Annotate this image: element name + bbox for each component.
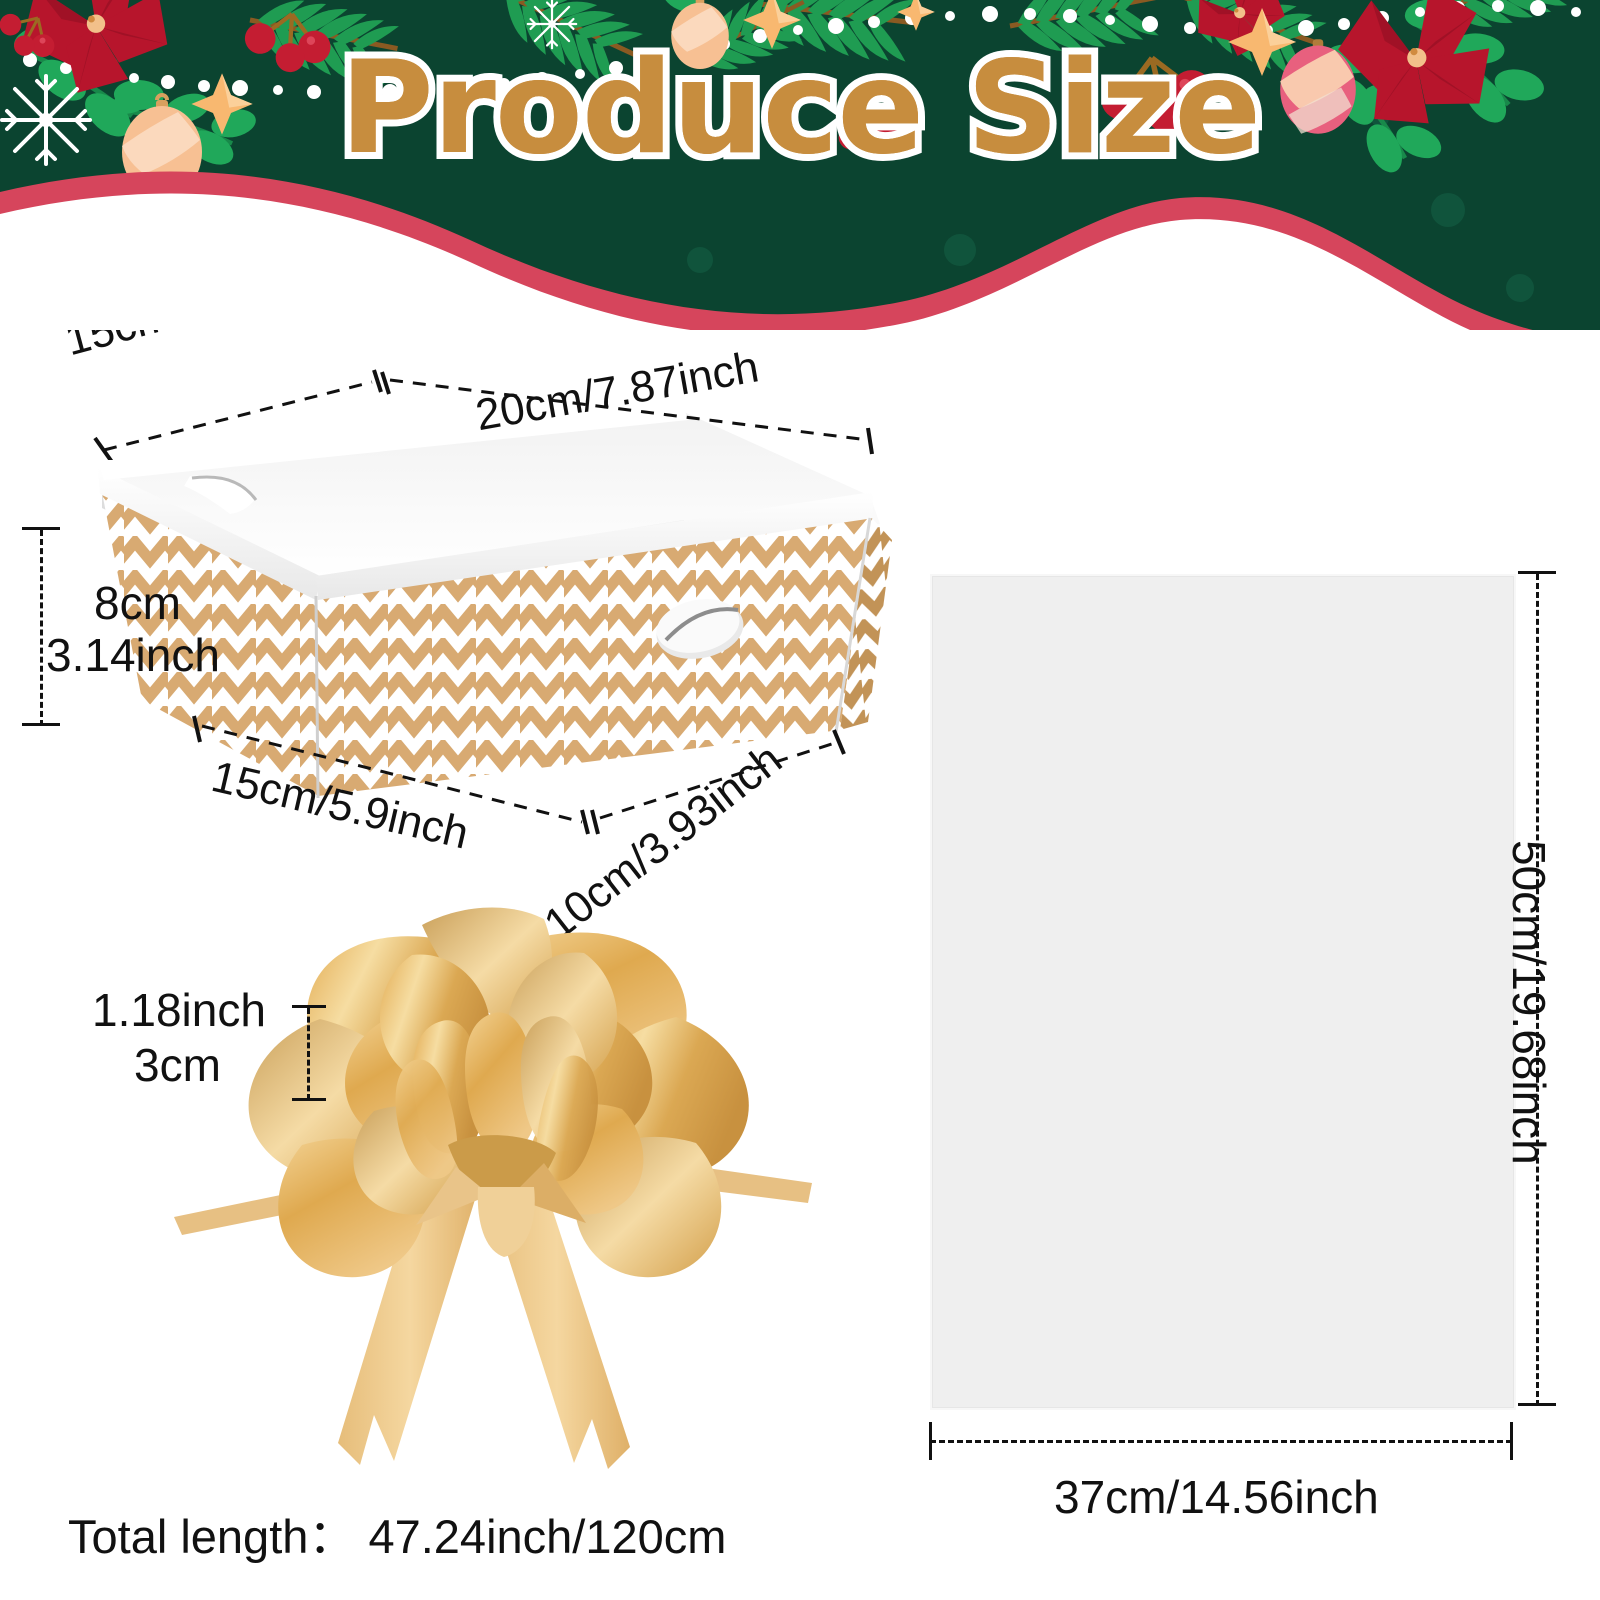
bow-total-length-label: Total length： 47.24inch/120cm <box>68 1498 726 1567</box>
bag-width-dimension-line <box>930 1440 1512 1443</box>
header-wave-divider <box>0 0 1600 330</box>
bow-width-cap-top <box>292 1005 326 1008</box>
bow-width-label-cm: 3cm <box>134 1038 221 1092</box>
basket-height-label-cm: 8cm <box>94 576 181 630</box>
bag-width-cap-right <box>1510 1422 1513 1460</box>
cellophane-bag <box>930 574 1516 1410</box>
bag-height-cap-top <box>1518 571 1556 574</box>
basket-height-label-inch: 3.14inch <box>46 628 220 682</box>
bag-width-cap-left <box>929 1422 932 1460</box>
bow-width-label-inch: 1.18inch <box>92 983 266 1037</box>
bow-width-dimension-line <box>307 1008 310 1100</box>
bow-width-cap-bottom <box>292 1098 326 1101</box>
bag-height-cap-bottom <box>1518 1403 1556 1406</box>
bag-width-label: 37cm/14.56inch <box>1054 1470 1379 1524</box>
bag-height-label: 50cm/19.68inch <box>1502 840 1556 1165</box>
basket-height-dimension-line <box>40 530 43 726</box>
header-banner: Produce Size Produce Size <box>0 0 1600 330</box>
basket-height-cap-bottom <box>22 723 60 726</box>
basket-height-cap-top <box>22 527 60 530</box>
